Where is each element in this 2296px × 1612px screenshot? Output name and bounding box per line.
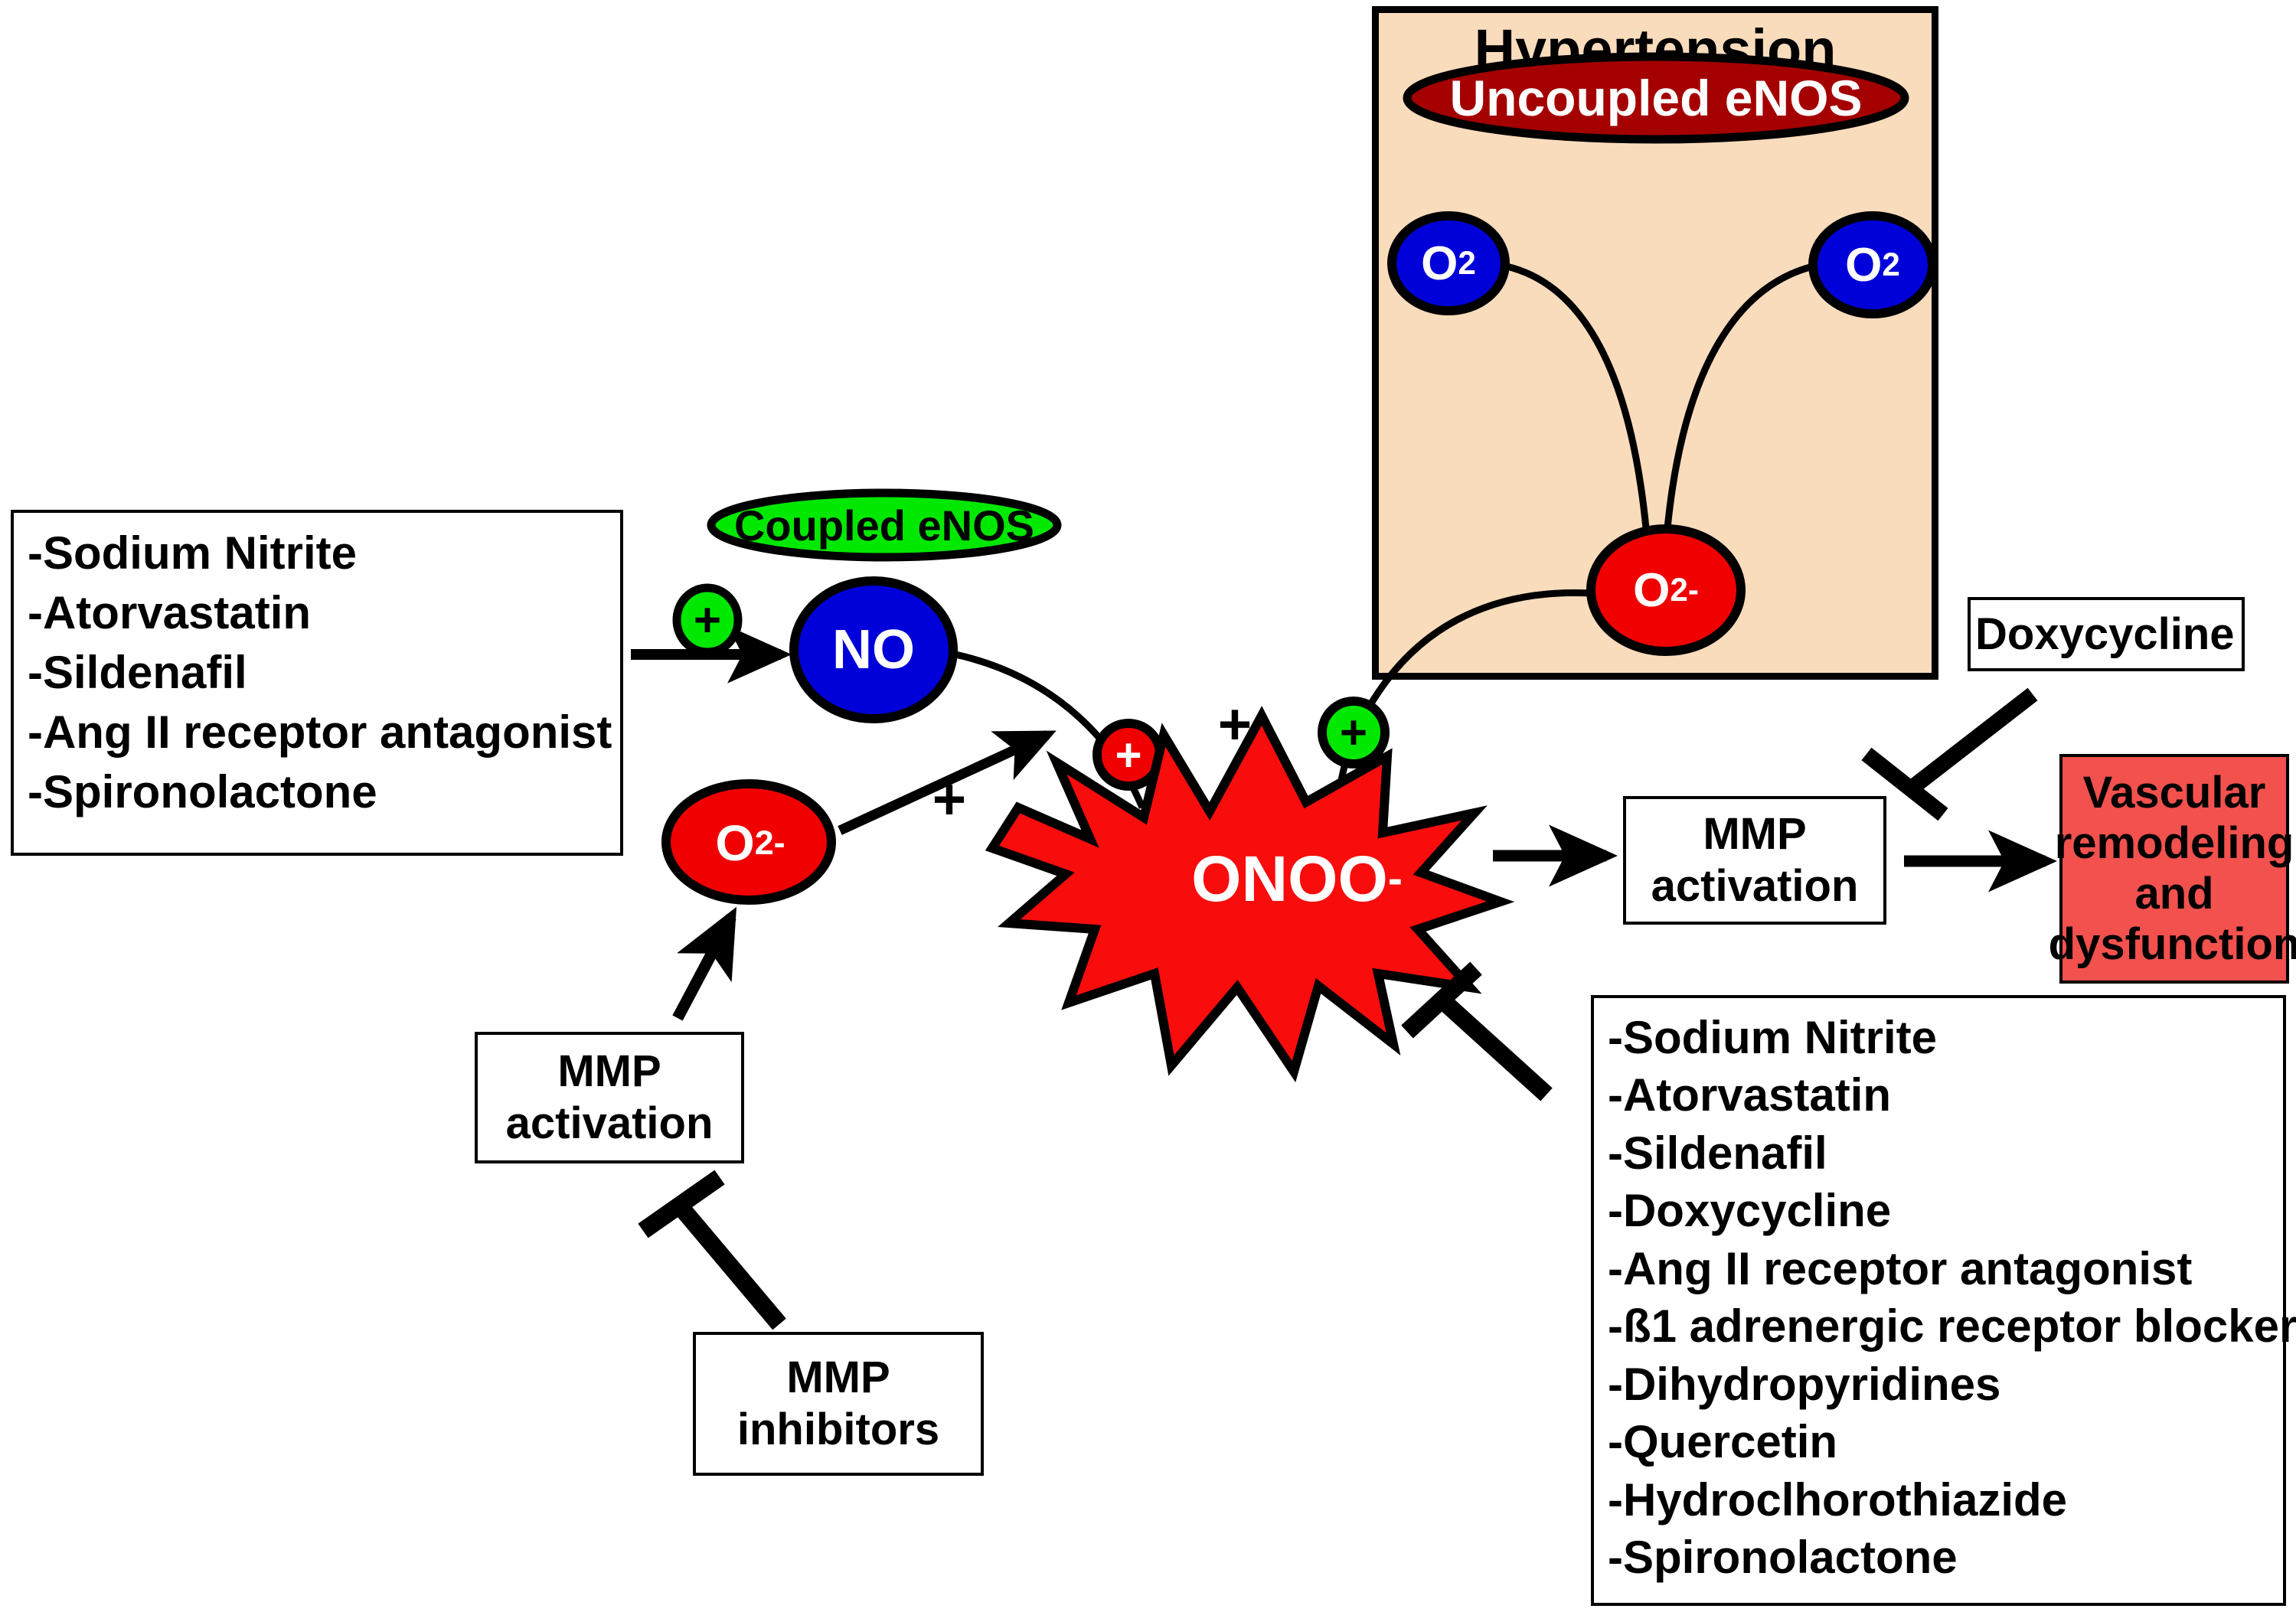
vascular-line2: remodeling (2055, 818, 2294, 869)
list-item: -Dihydropyridines (1608, 1356, 2271, 1413)
doxycycline-box: Doxycycline (1968, 597, 2245, 671)
doxycycline-label: Doxycycline (1971, 609, 2242, 661)
list-item: -Spironolactone (28, 762, 608, 822)
superoxide-left-node (666, 784, 831, 900)
uncoupled-enos-ellipse (1407, 57, 1905, 139)
list-item: -Atorvastatin (28, 583, 608, 643)
vascular-line4: dysfunction (2049, 919, 2296, 970)
list-item: -Hydroclhorothiazide (1608, 1471, 2271, 1529)
list-item: -Spironolactone (1608, 1529, 2271, 1586)
vascular-line3: and (2134, 869, 2213, 919)
superoxide-panel-node (1591, 529, 1741, 651)
mmp-activation-box-right: MMP activation (1623, 796, 1886, 925)
mmp-activation-line2: activation (506, 1098, 714, 1150)
list-item: -Sildenafil (28, 643, 608, 703)
no-node (794, 581, 953, 719)
list-item: -Sodium Nitrite (1608, 1009, 2271, 1066)
list-item: -Doxycycline (1608, 1182, 2271, 1239)
mmp-activation-line1: MMP (557, 1046, 661, 1098)
list-item: -Quercetin (1608, 1413, 2271, 1470)
mmp-inhibitors-line2: inhibitors (737, 1404, 939, 1456)
edge-o2right-to-superoxide (1667, 266, 1813, 528)
mmp-inhibitors-box: MMP inhibitors (693, 1332, 984, 1476)
diagram-canvas: Hypertension (0, 0, 2296, 1612)
mmp-inhibitors-line1: MMP (786, 1352, 890, 1404)
edge-o2left-to-superoxide (1507, 266, 1646, 528)
drug-list-box-left: -Sodium Nitrite -Atorvastatin -Sildenafi… (11, 510, 623, 856)
inhibition-doxycycline (1867, 694, 2033, 814)
list-item: -Ang II receptor antagonist (28, 703, 608, 762)
mmp-activation-line2: activation (1651, 860, 1859, 912)
drug-list-box-right: -Sodium Nitrite -Atorvastatin -Sildenafi… (1591, 995, 2286, 1606)
inhibition-mmp-inhibitors (643, 1177, 779, 1324)
list-item: -ß1 adrenergic receptor blocker (1608, 1297, 2271, 1355)
edge-mmp-left-to-superoxide (678, 917, 731, 1018)
plus-green-right-icon (1322, 701, 1385, 764)
inhibition-drugs-right (1407, 968, 1546, 1095)
list-item: -Ang II receptor antagonist (1608, 1240, 2271, 1297)
list-item: -Atorvastatin (1608, 1066, 2271, 1124)
vascular-line1: Vascular (2083, 768, 2266, 818)
list-item: -Sildenafil (1608, 1124, 2271, 1182)
vascular-outcome-box: Vascular remodeling and dysfunction (2059, 754, 2289, 984)
mmp-activation-line1: MMP (1703, 808, 1806, 860)
coupled-enos-ellipse (711, 493, 1057, 557)
o2-left-node (1392, 216, 1505, 311)
mmp-activation-box-left: MMP activation (475, 1032, 744, 1163)
list-item: -Sodium Nitrite (28, 524, 608, 583)
plus-green-left-icon (677, 588, 738, 652)
o2-right-node (1813, 216, 1932, 314)
